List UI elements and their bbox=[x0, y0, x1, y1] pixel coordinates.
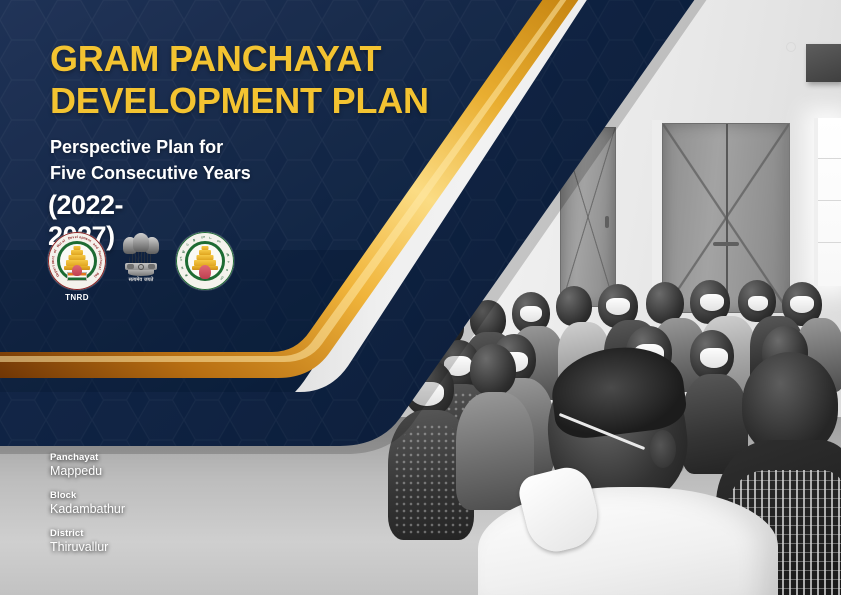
location-district: District Thiruvallur bbox=[50, 528, 125, 554]
block-value: Kadambathur bbox=[50, 502, 125, 516]
location-block: Panchayat Mappedu Block Kadambathur Dist… bbox=[50, 452, 125, 566]
location-panchayat: Panchayat Mappedu bbox=[50, 452, 125, 478]
block-label: Block bbox=[50, 490, 125, 501]
district-label: District bbox=[50, 528, 125, 539]
tnrd-caption: TNRD bbox=[48, 293, 106, 302]
emblem-india: सत्यमेव जयते bbox=[118, 232, 164, 290]
subtitle-line-2: Five Consecutive Years bbox=[50, 161, 450, 187]
subtitle: Perspective Plan for Five Consecutive Ye… bbox=[50, 135, 450, 187]
district-value: Thiruvallur bbox=[50, 540, 125, 554]
location-block-name: Block Kadambathur bbox=[50, 490, 125, 516]
title-line-2: DEVELOPMENT PLAN bbox=[50, 80, 470, 122]
page-title: GRAM PANCHAYAT DEVELOPMENT PLAN bbox=[50, 38, 470, 123]
seal-ring-text: தமிழ்நாடு அரசு bbox=[177, 233, 233, 289]
tnrd-seal-icon: Department of Rural Development and Panc… bbox=[48, 232, 106, 290]
emblem-tamil-nadu: தமிழ்நாடு அரசு bbox=[176, 232, 234, 290]
subtitle-line-1: Perspective Plan for bbox=[50, 135, 450, 161]
title-line-1: GRAM PANCHAYAT bbox=[50, 38, 381, 79]
emblem-tnrd: Department of Rural Development and Panc… bbox=[48, 232, 106, 302]
panchayat-label: Panchayat bbox=[50, 452, 125, 463]
lotus-motif-icon bbox=[72, 265, 82, 276]
cover-page: GRAM PANCHAYAT DEVELOPMENT PLAN Perspect… bbox=[0, 0, 841, 595]
ashoka-motto: सत्यमेव जयते bbox=[129, 277, 154, 283]
tamil-nadu-seal-icon: தமிழ்நாடு அரசு bbox=[176, 232, 234, 290]
emblem-row: Department of Rural Development and Panc… bbox=[48, 232, 234, 302]
ashoka-lion-capital-icon: सत्यमेव जयते bbox=[118, 232, 164, 290]
seal-ring-text: Department of Rural Development and Panc… bbox=[49, 233, 105, 289]
panchayat-value: Mappedu bbox=[50, 464, 125, 478]
